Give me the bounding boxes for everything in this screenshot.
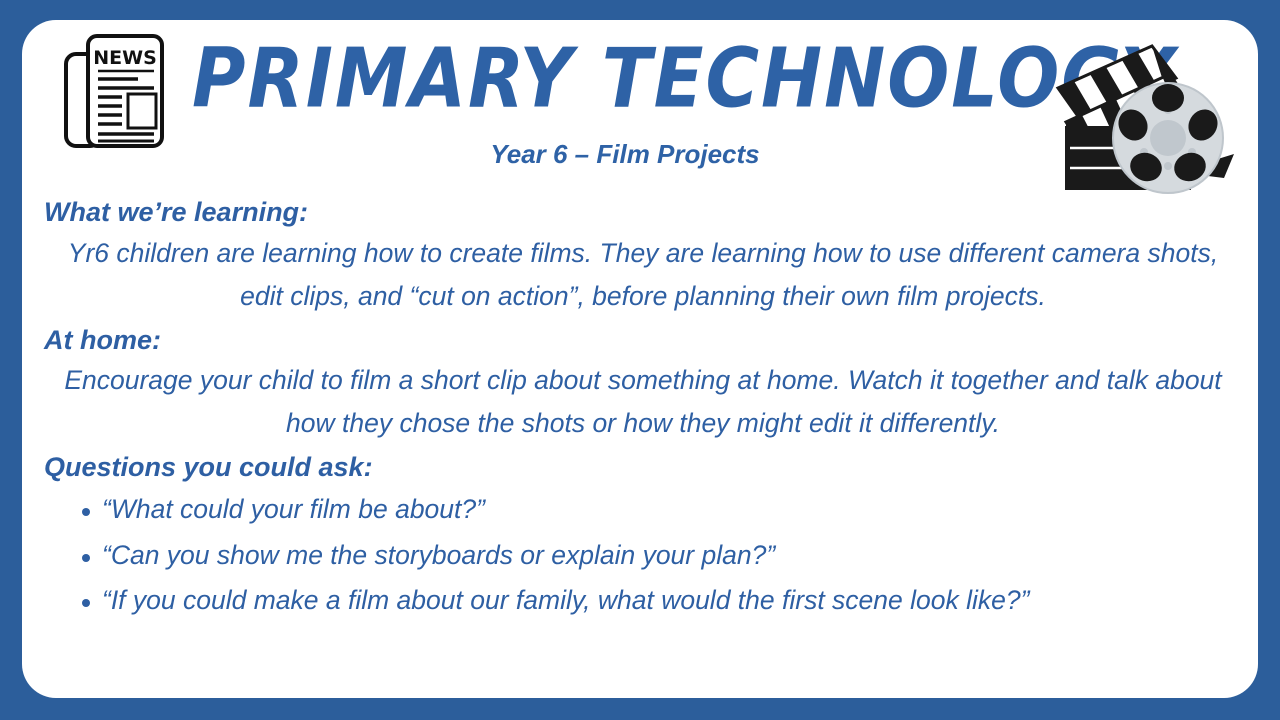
section-paragraph-learning: Yr6 children are learning how to create … bbox=[44, 232, 1242, 318]
page-title: PRIMARY TECHNOLOGY bbox=[192, 38, 1058, 120]
list-item: “If you could make a film about our fami… bbox=[44, 578, 1242, 624]
title-block: PRIMARY TECHNOLOGY Year 6 – Film Project… bbox=[192, 38, 1058, 170]
section-at-home: At home: Encourage your child to film a … bbox=[44, 324, 1242, 446]
list-item: “What could your film be about?” bbox=[44, 487, 1242, 533]
questions-list: “What could your film be about?” “Can yo… bbox=[44, 487, 1242, 624]
poster-header: NEWS PRIMARY TECHNOLOGY Year 6 – Film Pr… bbox=[22, 20, 1258, 190]
page-subtitle: Year 6 – Film Projects bbox=[192, 139, 1058, 170]
svg-text:NEWS: NEWS bbox=[93, 47, 157, 69]
section-heading-at-home: At home: bbox=[44, 324, 1242, 358]
section-questions: Questions you could ask: “What could you… bbox=[44, 451, 1242, 623]
newsletter-card: NEWS PRIMARY TECHNOLOGY Year 6 – Film Pr… bbox=[22, 20, 1258, 698]
poster-body: What we’re learning: Yr6 children are le… bbox=[22, 196, 1258, 624]
newspaper-icon: NEWS bbox=[60, 28, 180, 158]
section-paragraph-at-home: Encourage your child to film a short cli… bbox=[44, 359, 1242, 445]
section-heading-learning: What we’re learning: bbox=[44, 196, 1242, 230]
clapperboard-film-reel-icon bbox=[1048, 26, 1238, 196]
section-heading-questions: Questions you could ask: bbox=[44, 451, 1242, 485]
newsletter-poster: NEWS PRIMARY TECHNOLOGY Year 6 – Film Pr… bbox=[0, 0, 1280, 720]
section-what-we-are-learning: What we’re learning: Yr6 children are le… bbox=[44, 196, 1242, 318]
list-item: “Can you show me the storyboards or expl… bbox=[44, 533, 1242, 579]
